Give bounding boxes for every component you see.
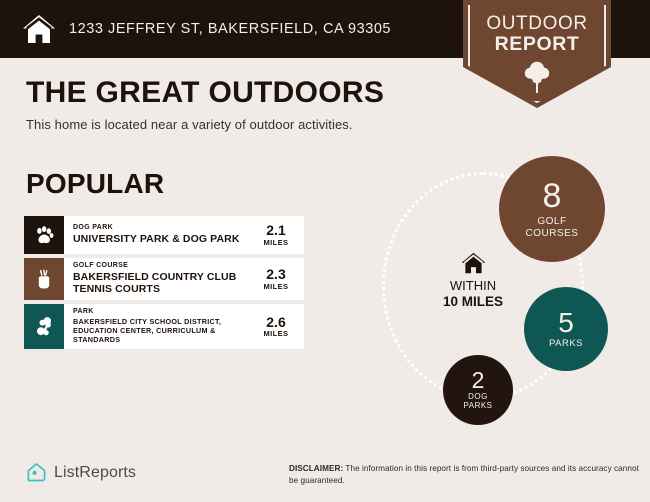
- badge-line-2: REPORT: [463, 34, 611, 56]
- listreports-brand-text: ListReports: [54, 464, 136, 482]
- stat-circle-dog-parks[interactable]: 2 DOGPARKS: [443, 355, 513, 425]
- property-address: 1233 JEFFREY ST, BAKERSFIELD, CA 93305: [69, 21, 391, 37]
- listreports-logo[interactable]: ListReports: [26, 462, 136, 483]
- stat-value: 8: [543, 179, 562, 213]
- distance-unit: MILES: [264, 282, 289, 291]
- stat-circle-parks[interactable]: 5 PARKS: [524, 287, 608, 371]
- list-item[interactable]: DOG PARK UNIVERSITY PARK & DOG PARK 2.1 …: [24, 216, 304, 254]
- within-radius-label: WITHIN 10 MILES: [421, 252, 525, 309]
- popular-list: DOG PARK UNIVERSITY PARK & DOG PARK 2.1 …: [24, 216, 304, 353]
- list-item-distance: 2.6 MILES: [255, 304, 304, 349]
- list-item-category: DOG PARK: [73, 224, 253, 233]
- home-icon: [421, 252, 525, 274]
- list-item-distance: 2.3 MILES: [255, 258, 304, 300]
- header-content: 1233 JEFFREY ST, BAKERSFIELD, CA 93305: [22, 0, 391, 58]
- page-title: THE GREAT OUTDOORS: [26, 76, 384, 109]
- stat-circle-golf-courses[interactable]: 8 GOLFCOURSES: [499, 156, 605, 262]
- home-icon: [22, 14, 56, 44]
- list-item-category: GOLF COURSE: [73, 262, 253, 271]
- badge-line-1: OUTDOOR: [463, 13, 611, 34]
- stat-label: PARKS: [549, 339, 583, 350]
- list-item-text: DOG PARK UNIVERSITY PARK & DOG PARK: [64, 216, 255, 254]
- tree-icon: [463, 60, 611, 99]
- list-item-name: UNIVERSITY PARK & DOG PARK: [73, 233, 253, 246]
- list-item-text: PARK BAKERSFIELD CITY SCHOOL DISTRICT, E…: [64, 304, 255, 349]
- list-item-text: GOLF COURSE BAKERSFIELD COUNTRY CLUB TEN…: [64, 258, 255, 300]
- stat-value: 5: [558, 309, 574, 337]
- list-item[interactable]: GOLF COURSE BAKERSFIELD COUNTRY CLUB TEN…: [24, 258, 304, 300]
- distance-unit: MILES: [264, 329, 289, 338]
- outdoor-report-badge: OUTDOOR REPORT: [463, 0, 611, 108]
- page-subtitle: This home is located near a variety of o…: [26, 117, 384, 132]
- list-item[interactable]: PARK BAKERSFIELD CITY SCHOOL DISTRICT, E…: [24, 304, 304, 349]
- within-line-2: 10 MILES: [421, 294, 525, 309]
- distance-unit: MILES: [264, 238, 289, 247]
- list-item-name: BAKERSFIELD CITY SCHOOL DISTRICT, EDUCAT…: [73, 317, 253, 345]
- list-item-category: PARK: [73, 308, 253, 317]
- popular-heading: POPULAR: [26, 168, 164, 200]
- stat-label: DOGPARKS: [463, 393, 492, 411]
- golf-bag-icon: [24, 258, 64, 300]
- stat-label: GOLFCOURSES: [526, 216, 579, 238]
- distance-value: 2.3: [266, 267, 285, 282]
- list-item-distance: 2.1 MILES: [255, 216, 304, 254]
- within-line-1: WITHIN: [421, 279, 525, 294]
- listreports-house-icon: [26, 462, 47, 483]
- list-item-name: BAKERSFIELD COUNTRY CLUB TENNIS COURTS: [73, 271, 253, 296]
- disclaimer: DISCLAIMER: The information in this repo…: [289, 463, 639, 487]
- distance-value: 2.6: [266, 315, 285, 330]
- distance-value: 2.1: [266, 223, 285, 238]
- paw-icon: [24, 216, 64, 254]
- stat-value: 2: [472, 369, 485, 392]
- disclaimer-label: DISCLAIMER:: [289, 464, 343, 473]
- park-tree-icon: [24, 304, 64, 349]
- badge-text: OUTDOOR REPORT: [463, 13, 611, 56]
- title-block: THE GREAT OUTDOORS This home is located …: [26, 76, 384, 132]
